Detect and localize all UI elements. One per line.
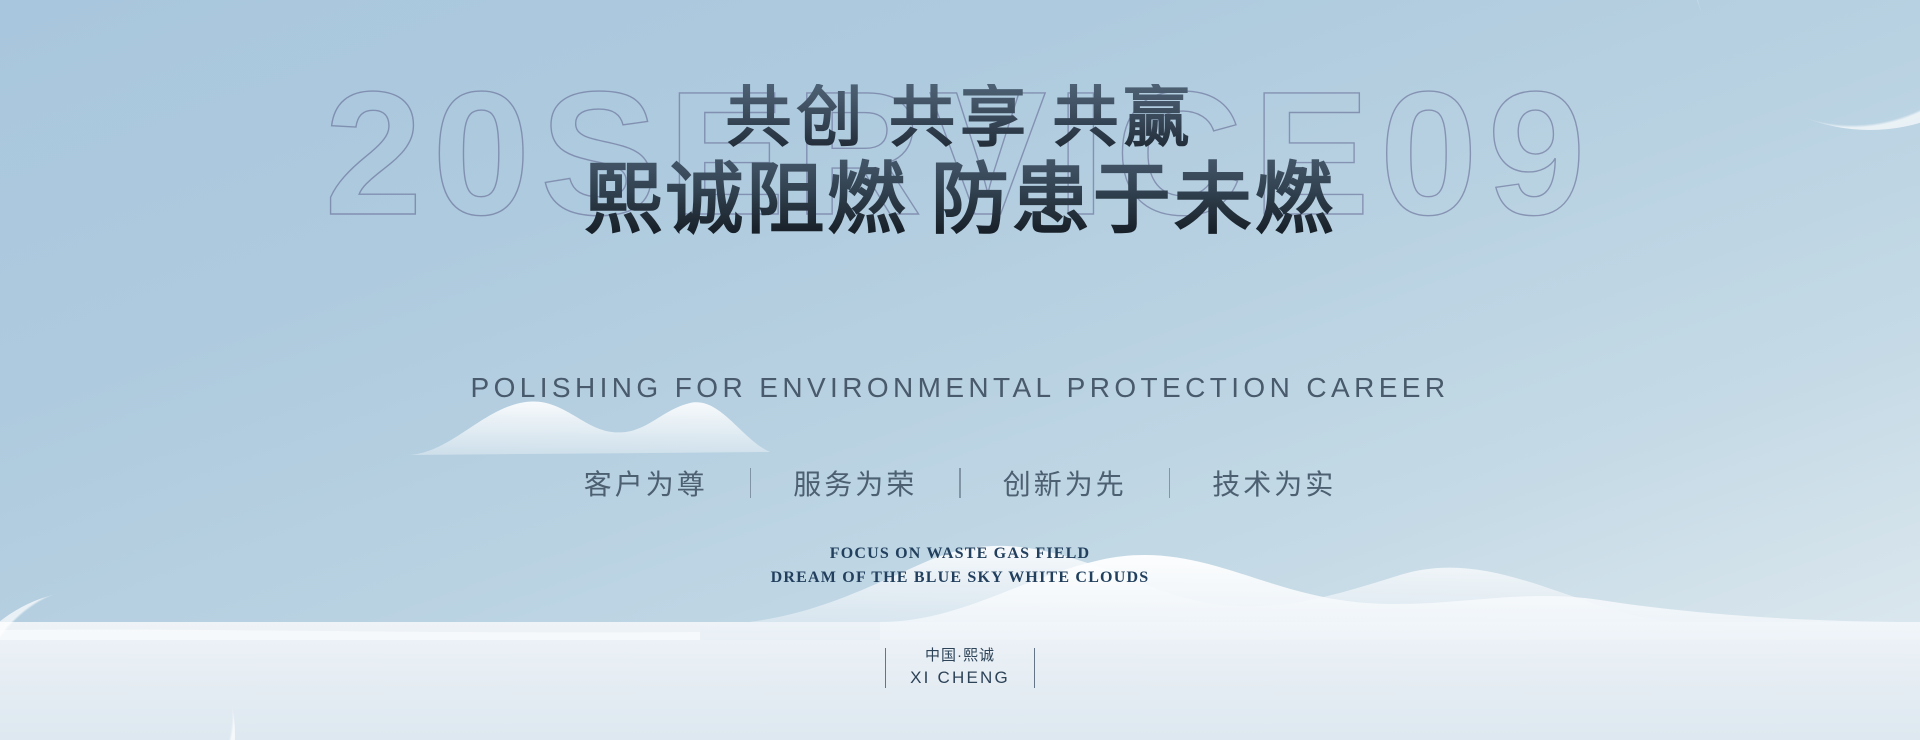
logo-divider-right — [1034, 648, 1036, 688]
headline-line-1: 共创 共享 共赢 — [0, 84, 1920, 153]
value-separator-2 — [959, 468, 961, 498]
value-item-4: 技术为实 — [1212, 463, 1336, 503]
logo-english: XI CHENG — [910, 668, 1010, 687]
value-item-3: 创新为先 — [1003, 463, 1127, 503]
promo-banner: 20SERVICE09 共创 共享 共赢 熙诚阻燃 防患于未燃 POLISHIN… — [0, 0, 1920, 740]
logo-divider-left — [885, 648, 887, 688]
value-item-1: 客户为尊 — [584, 463, 708, 503]
value-separator-1 — [750, 468, 752, 498]
headline-line-2: 熙诚阻燃 防患于未燃 — [0, 157, 1920, 243]
logo-text-block: 中国·熙诚 XI CHENG — [910, 645, 1010, 690]
logo-chinese: 中国·熙诚 — [925, 647, 995, 664]
english-tagline: POLISHING FOR ENVIRONMENTAL PROTECTION C… — [0, 372, 1920, 404]
values-row: 客户为尊 服务为荣 创新为先 技术为实 — [0, 463, 1920, 503]
headline-block: 共创 共享 共赢 熙诚阻燃 防患于未燃 — [0, 84, 1920, 243]
value-item-2: 服务为荣 — [793, 463, 917, 503]
value-separator-3 — [1169, 468, 1171, 498]
serif-english-line-2: DREAM OF THE BLUE SKY WHITE CLOUDS — [0, 569, 1920, 587]
brand-logo: 中国·熙诚 XI CHENG — [0, 645, 1920, 690]
serif-english-line-1: FOCUS ON WASTE GAS FIELD — [0, 545, 1920, 563]
serif-english-block: FOCUS ON WASTE GAS FIELD DREAM OF THE BL… — [0, 545, 1920, 587]
